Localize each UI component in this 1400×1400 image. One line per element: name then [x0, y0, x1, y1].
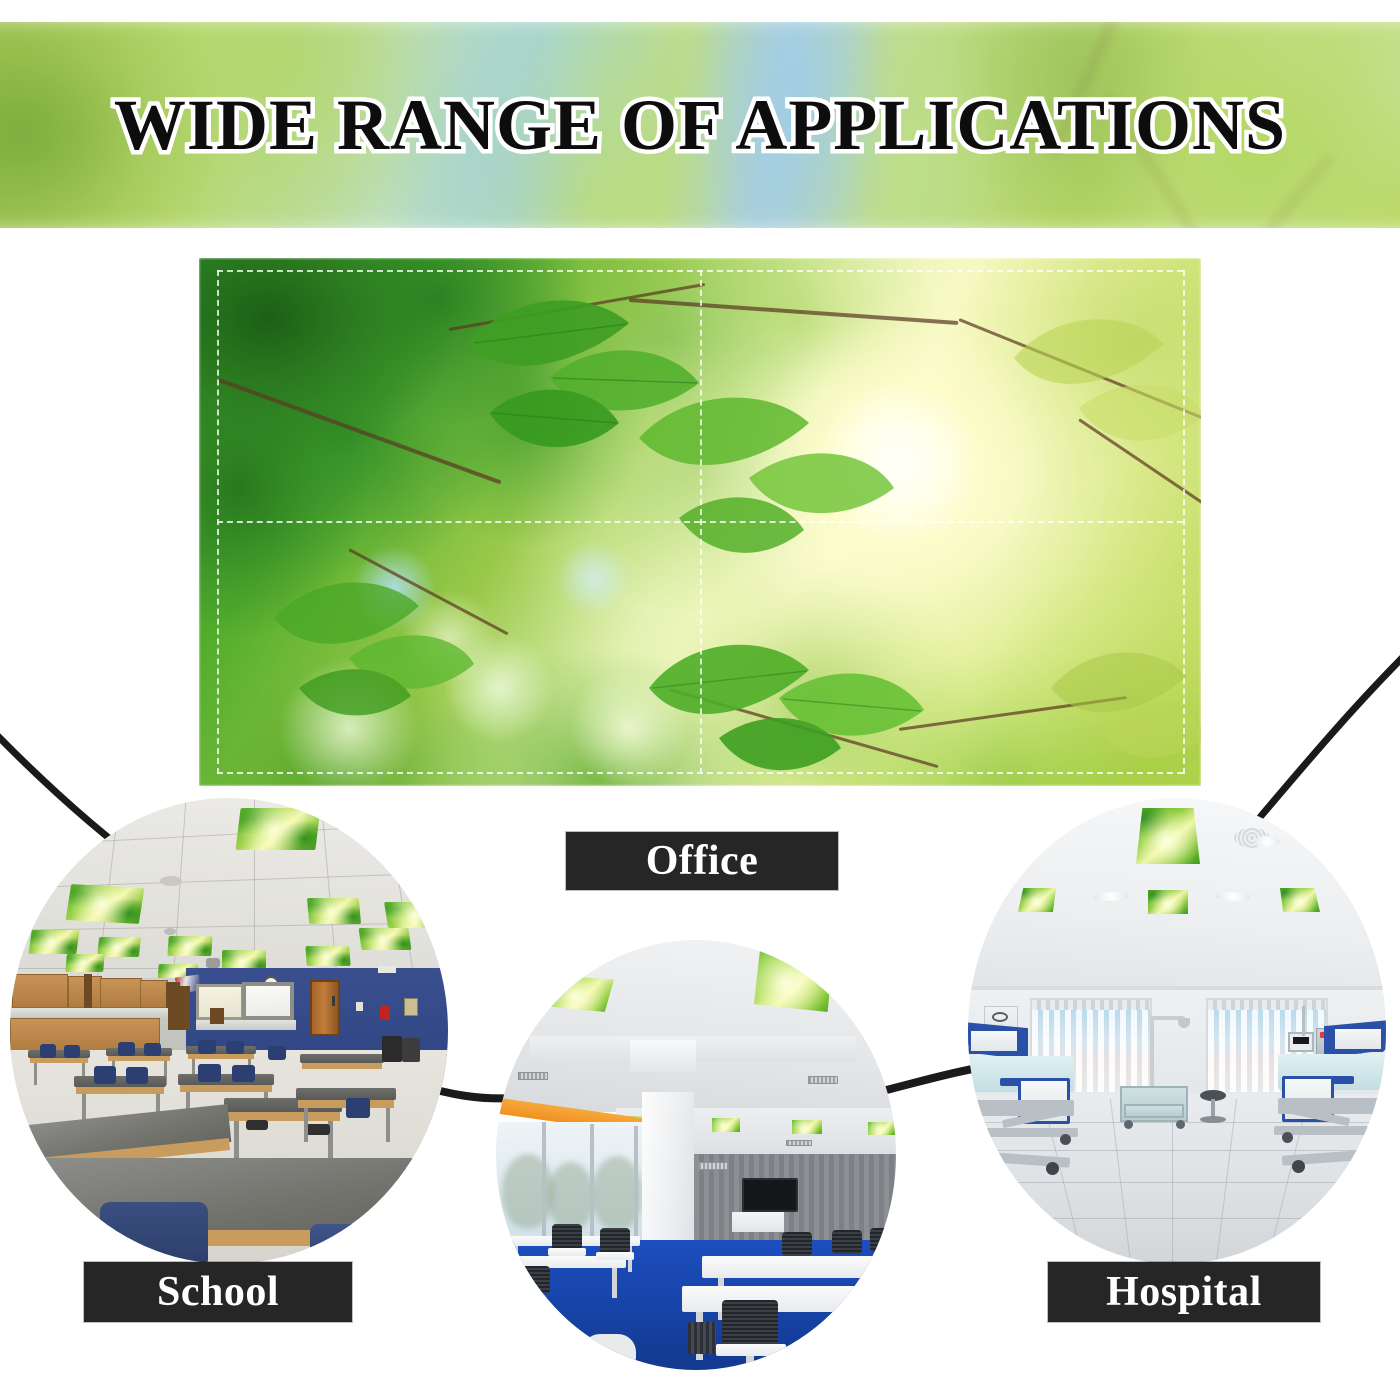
application-circle-hospital[interactable]: [968, 798, 1386, 1264]
ceiling-air-vent: [518, 1072, 548, 1080]
header-banner: WIDE RANGE OF APPLICATIONS: [0, 22, 1400, 228]
leaf-light-panel: [1148, 890, 1188, 914]
leaf-light-panel: [305, 946, 350, 966]
lab-table: [74, 1076, 166, 1087]
window-mullion: [590, 1124, 594, 1246]
student-chair: [40, 1044, 56, 1058]
leaf-light-panel: [548, 976, 614, 1012]
desk-leg: [612, 1268, 617, 1298]
desk-leg: [502, 1268, 507, 1298]
wall-cornice: [968, 986, 1386, 990]
ceiling-sensor-icon: [164, 928, 176, 935]
student-chair: [268, 1046, 286, 1060]
leaf-light-panel: [65, 954, 105, 972]
table-leg: [882, 1312, 889, 1360]
foreground-lab-table-main: [40, 1158, 420, 1232]
chair-base: [746, 1356, 754, 1370]
bed-headboard-panel: [1332, 1026, 1384, 1052]
table-apron: [76, 1087, 164, 1094]
table-apron: [180, 1085, 272, 1092]
table-apron: [226, 1112, 340, 1121]
foreground-chair: [100, 1202, 208, 1264]
leaf-light-panel: [1136, 808, 1200, 864]
bed-headboard-panel: [968, 1028, 1020, 1054]
table-leg: [34, 1063, 37, 1085]
door-handle-icon: [332, 996, 335, 1006]
chair-seat: [596, 1252, 634, 1260]
chair-foreground-extra: [582, 1334, 636, 1362]
cart-caster-icon: [1176, 1120, 1185, 1129]
office-chair: [600, 1228, 630, 1254]
bed-caster-icon: [1046, 1162, 1059, 1175]
leaf-light-panel: [712, 1118, 740, 1132]
cabinet-divider: [84, 974, 92, 1010]
office-chair-foreground: [722, 1300, 778, 1348]
blind-headrail: [1208, 1000, 1326, 1010]
fire-alarm-box: [380, 1006, 390, 1020]
upper-cabinet: [100, 978, 142, 1008]
trash-can: [402, 1038, 420, 1062]
lab-equipment-cabinet: [168, 986, 190, 1030]
chair-seat: [716, 1344, 786, 1356]
blind-headrail: [1032, 1000, 1150, 1010]
label-school: School: [84, 1262, 352, 1322]
lower-cabinet: [10, 1018, 160, 1052]
window-mullion: [542, 1122, 546, 1246]
lab-table: [186, 1046, 256, 1054]
student-chair: [144, 1043, 161, 1056]
table-leg: [234, 1121, 239, 1159]
instrument-cart-shelf: [1124, 1104, 1184, 1118]
hospital-scene: [968, 798, 1386, 1264]
bed-caster-icon: [1282, 1132, 1293, 1143]
student-chair: [118, 1042, 135, 1056]
window-mullion: [634, 1126, 638, 1246]
table-leg: [304, 1108, 308, 1142]
bed-caster-icon: [978, 1136, 989, 1147]
office-scene: [496, 940, 896, 1370]
label-office-text: Office: [646, 837, 759, 885]
lab-table: [300, 1054, 384, 1063]
office-chair: [782, 1232, 812, 1256]
ceiling-downlight: [1216, 892, 1250, 901]
ceiling-air-vent: [808, 1076, 838, 1084]
leaf-light-panel: [384, 902, 448, 928]
hospital-bed-left: [968, 1022, 1112, 1182]
student-chair: [346, 1098, 370, 1118]
ceiling-vent-icon: [160, 876, 182, 886]
student-chair: [226, 1041, 244, 1054]
podium: [210, 1008, 224, 1024]
student-chair: [232, 1065, 255, 1082]
window-tree-foliage: [548, 1162, 594, 1230]
table-apron: [188, 1054, 254, 1059]
floor-tile-line: [968, 1218, 1386, 1219]
lab-counter: [10, 1008, 182, 1018]
classroom-door: [310, 980, 340, 1036]
window-tree-foliage: [502, 1154, 554, 1228]
table-apron: [108, 1056, 170, 1061]
ceiling-speaker-icon: [206, 958, 220, 968]
upper-cabinet: [12, 974, 68, 1008]
lab-table: [106, 1048, 172, 1056]
bed-caster-icon: [1292, 1160, 1305, 1173]
exit-light-icon: [378, 966, 396, 973]
trash-can: [382, 1036, 402, 1062]
office-ceiling: [496, 940, 896, 1112]
label-hospital-text: Hospital: [1106, 1268, 1262, 1316]
meeting-table-front: [682, 1286, 896, 1312]
chair-seat: [548, 1248, 586, 1256]
leaf-light-panel: [28, 930, 79, 954]
wall-plate-icon: [356, 1002, 363, 1011]
cart-caster-icon: [1124, 1120, 1133, 1129]
upper-cabinet: [140, 980, 168, 1008]
office-ceiling-drop-box: [630, 1040, 696, 1072]
leaf-light-panel: [235, 808, 320, 850]
office-chair: [832, 1230, 862, 1254]
student-chair: [198, 1064, 221, 1082]
student-chair: [198, 1040, 216, 1054]
school-scene: [10, 798, 448, 1264]
ceiling-downlight: [1254, 836, 1280, 848]
leaf-light-panel: [1280, 888, 1320, 912]
wall-air-vent: [698, 1162, 728, 1170]
application-circle-office[interactable]: [496, 940, 896, 1370]
label-office: Office: [566, 832, 838, 890]
ceiling-ripple-vent: [1012, 832, 1046, 852]
table-leg: [386, 1108, 390, 1142]
leaf-light-panel: [792, 1120, 822, 1134]
leaf-light-panel: [307, 898, 361, 924]
office-chair: [552, 1224, 582, 1250]
student-stool: [246, 1120, 268, 1130]
office-chair: [516, 1266, 550, 1294]
leaf-light-panel: [65, 884, 144, 924]
leaf-light-panel: [868, 1122, 896, 1135]
hospital-bed-right: [1240, 1020, 1386, 1184]
ceiling-downlight: [1094, 892, 1128, 901]
credenza: [732, 1212, 784, 1232]
stool-base-icon: [1200, 1116, 1226, 1123]
bed-caster-icon: [1364, 1134, 1375, 1145]
office-chair: [870, 1228, 896, 1252]
waste-basket: [688, 1322, 716, 1354]
label-hospital: Hospital: [1048, 1262, 1320, 1322]
lab-table: [178, 1074, 274, 1085]
poster-canvas: WIDE RANGE OF APPLICATIONS: [0, 0, 1400, 1400]
leaf-light-panel: [358, 928, 411, 950]
foreground-chair: [310, 1224, 390, 1264]
page-title: WIDE RANGE OF APPLICATIONS: [0, 22, 1400, 228]
leaf-light-panel: [167, 936, 212, 956]
wall-mounted-tv: [742, 1178, 798, 1212]
student-chair: [126, 1067, 148, 1084]
wall-panel-box: [404, 998, 418, 1016]
leaf-light-panel: [1018, 888, 1056, 912]
lab-table: [28, 1050, 90, 1058]
student-chair: [64, 1045, 80, 1058]
meeting-table: [702, 1256, 896, 1278]
interactive-whiteboard: [242, 982, 294, 1020]
table-apron: [302, 1063, 382, 1069]
ceiling-air-vent: [786, 1140, 812, 1146]
student-stool: [306, 1124, 330, 1135]
label-school-text: School: [157, 1268, 279, 1316]
bed-caster-icon: [1060, 1134, 1071, 1145]
student-chair: [94, 1066, 116, 1084]
application-circle-school[interactable]: [10, 798, 448, 1264]
table-apron: [30, 1058, 88, 1063]
leaf-light-panel: [754, 946, 834, 1012]
stethoscope-hook-icon: [992, 1012, 1008, 1022]
